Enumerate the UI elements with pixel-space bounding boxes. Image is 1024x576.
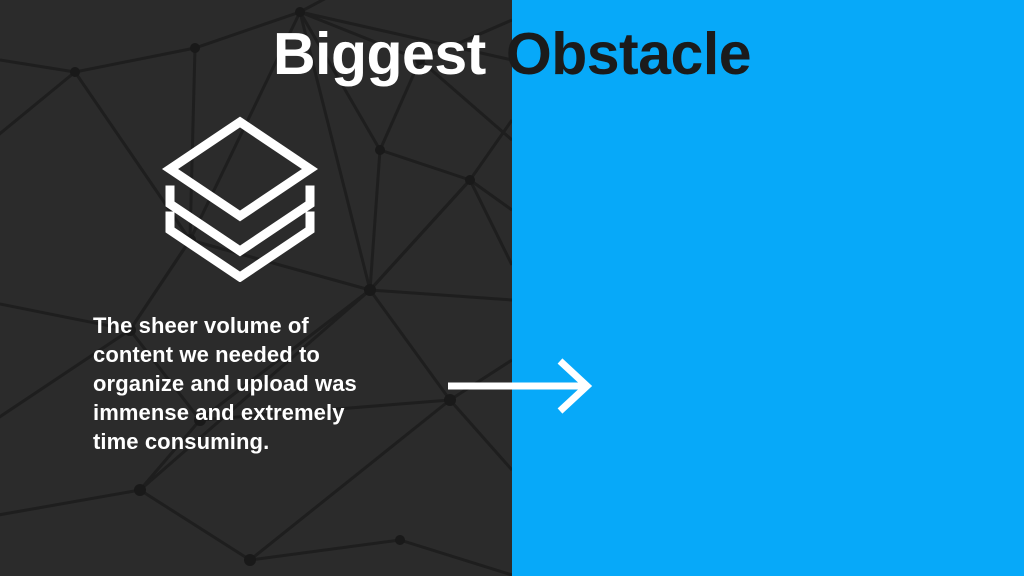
- right-arrow-icon: [446, 356, 594, 416]
- page-title: Biggest Obstacle: [0, 18, 1024, 90]
- slide-canvas: The sheer volume of content we needed to…: [0, 0, 1024, 576]
- title-word-left: Biggest: [273, 20, 486, 88]
- left-body-text: The sheer volume of content we needed to…: [93, 311, 383, 456]
- layers-stack-icon: [162, 112, 318, 282]
- title-word-right: Obstacle: [506, 20, 751, 88]
